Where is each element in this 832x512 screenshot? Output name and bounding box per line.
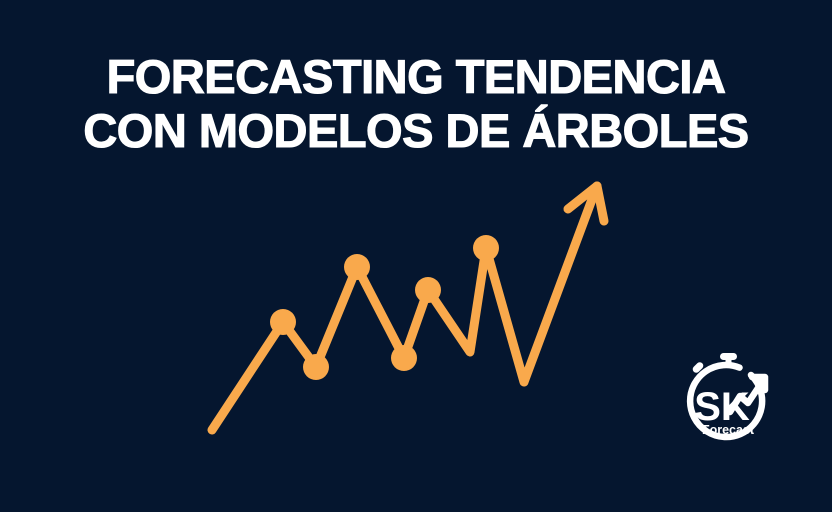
chart-data-point [415, 277, 441, 303]
forecast-banner: FORECASTING TENDENCIA CON MODELOS DE ÁRB… [0, 0, 832, 512]
chart-data-point [391, 345, 417, 371]
logo-wordmark: Forecast [702, 423, 755, 437]
chart-data-point [270, 309, 296, 335]
chart-data-point [344, 254, 370, 280]
chart-data-point [473, 235, 499, 261]
sk-forecast-logo[interactable]: SK Forecast [676, 348, 780, 452]
chart-data-point [303, 354, 329, 380]
chart-line-path [212, 186, 597, 430]
